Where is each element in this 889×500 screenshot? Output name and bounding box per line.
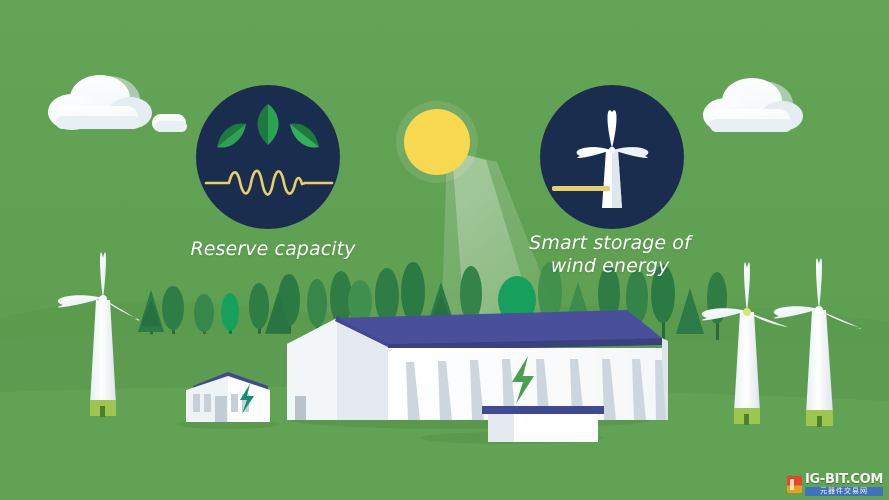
site-watermark: IG-BIT.COM 元器件交易网: [787, 473, 883, 496]
badge-smart-storage[interactable]: [0, 0, 889, 500]
watermark-logo-icon: [787, 476, 802, 493]
icon-gold-bar: [552, 186, 610, 191]
illustration-canvas: Reserve capacity Smart storage of wind e…: [0, 0, 889, 500]
icon-turbine-hub: [609, 147, 615, 153]
watermark-domain: IG-BIT.COM: [805, 473, 883, 486]
watermark-subtitle: 元器件交易网: [805, 487, 883, 496]
watermark-text: IG-BIT.COM 元器件交易网: [805, 473, 883, 496]
